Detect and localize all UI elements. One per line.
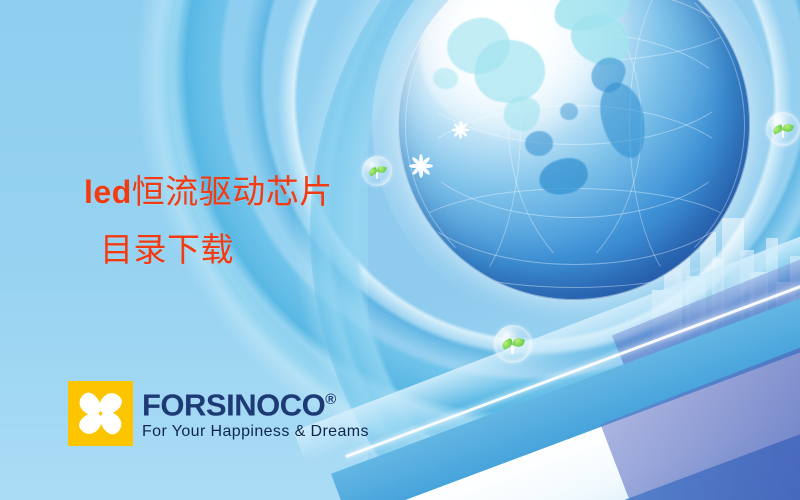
logo-name-word: FORSINOCO: [142, 387, 325, 422]
logo-text-block: FORSINOCO® For Your Happiness & Dreams: [142, 381, 369, 442]
headline-cjk: 恒流驱动芯片: [132, 172, 333, 211]
promo-banner: led恒流驱动芯片 目录下载 FORSINOCO® For Your Happi…: [0, 0, 800, 500]
registered-trademark-icon: ®: [325, 391, 336, 408]
four-petal-pinwheel-icon: [68, 381, 133, 446]
headline-line-2: 目录下载: [84, 221, 333, 279]
bubble-leaf-right: [766, 112, 800, 146]
headline-latin: led: [84, 174, 132, 210]
headline-text: led恒流驱动芯片 目录下载: [84, 163, 333, 279]
flower-left: [409, 154, 433, 178]
headline-line-1: led恒流驱动芯片: [84, 172, 333, 211]
company-logo: FORSINOCO® For Your Happiness & Dreams: [68, 381, 369, 446]
logo-tagline: For Your Happiness & Dreams: [142, 422, 369, 442]
globe-graphic: [398, 0, 750, 300]
bubble-leaf-upper: [362, 156, 392, 186]
flower-right: [452, 121, 470, 139]
bubble-leaf-lower: [494, 325, 532, 363]
logo-company-name: FORSINOCO®: [142, 383, 369, 421]
